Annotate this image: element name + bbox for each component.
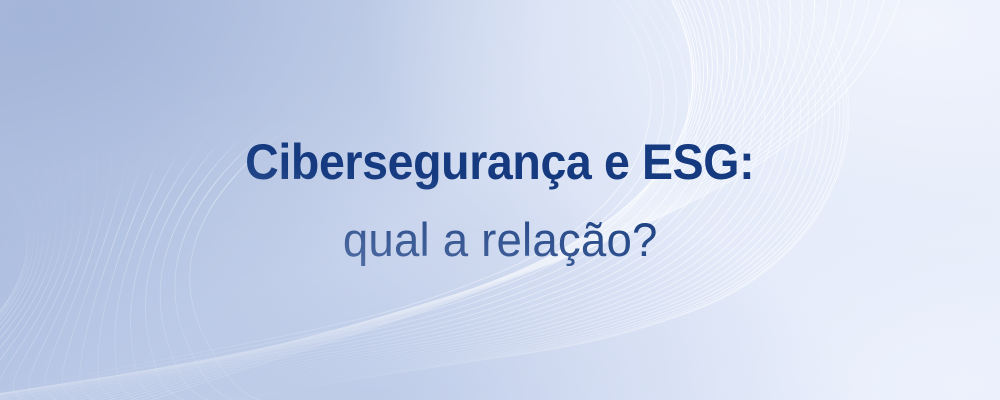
banner-subheadline: qual a relação? [343, 216, 658, 265]
banner-headline: Cibersegurança e ESG: [245, 136, 754, 188]
banner-text-block: Cibersegurança e ESG: qual a relação? [0, 0, 1000, 400]
hero-banner: Cibersegurança e ESG: qual a relação? [0, 0, 1000, 400]
